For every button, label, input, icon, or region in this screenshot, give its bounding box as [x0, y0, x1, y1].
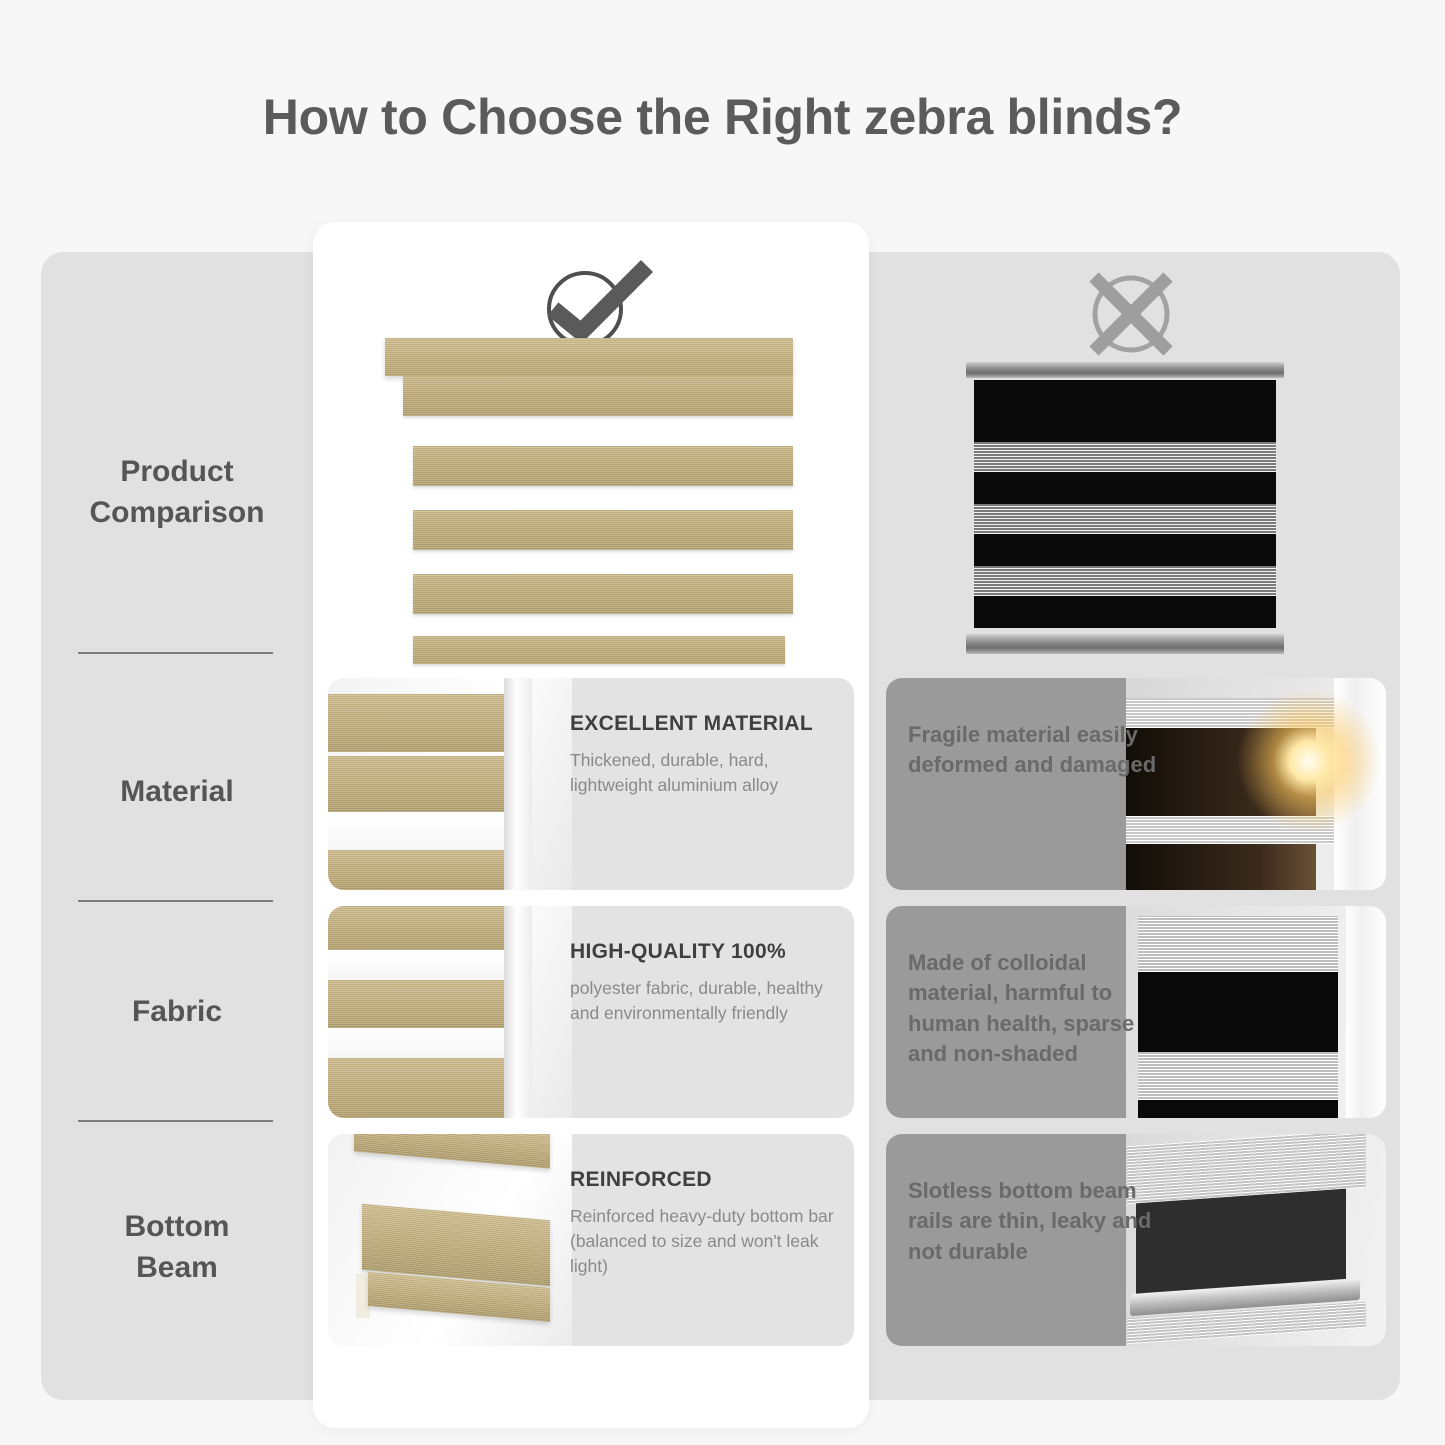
good-hero-image: [385, 338, 793, 668]
window-jamb: [504, 906, 532, 1118]
feature-description: Reinforced heavy-duty bottom bar (balanc…: [570, 1204, 836, 1279]
good-feature-text-fabric: HIGH-QUALITY 100% polyester fabric, dura…: [570, 940, 836, 1026]
bad-feature-text-material: Fragile material easily deformed and dam…: [908, 720, 1164, 781]
blind-slat: [328, 906, 504, 950]
window-jamb: [1346, 906, 1386, 1118]
blind-slat: [413, 510, 793, 550]
sheer-stripe: [1138, 916, 1338, 972]
feature-description: Thickened, durable, hard, lightweight al…: [570, 748, 836, 798]
page-title: How to Choose the Right zebra blinds?: [0, 88, 1445, 146]
blind-headrail: [385, 338, 793, 376]
good-feature-text-material: EXCELLENT MATERIAL Thickened, durable, h…: [570, 712, 836, 798]
good-feature-image-fabric: [328, 906, 572, 1118]
blind-bottom-bar: [413, 636, 785, 664]
blind-slat: [413, 574, 793, 614]
good-feature-text-bottom-beam: REINFORCED Reinforced heavy-duty bottom …: [570, 1168, 836, 1279]
blind-top-rail: [966, 362, 1284, 378]
bad-feature-image-bottom-beam: [1126, 1134, 1386, 1346]
black-blind-body: [974, 380, 1276, 628]
blind-slat: [328, 1058, 504, 1118]
feature-title: REINFORCED: [570, 1168, 836, 1192]
blind-bottom-rail: [966, 634, 1284, 654]
sidebar-item-bottom-beam: Bottom Beam: [41, 1172, 313, 1322]
good-feature-row-material: EXCELLENT MATERIAL Thickened, durable, h…: [328, 678, 854, 890]
blind-slat: [413, 446, 793, 486]
sidebar-divider: [78, 1120, 273, 1122]
good-feature-image-bottom-beam: [328, 1134, 572, 1346]
bad-feature-text-bottom-beam: Slotless bottom beam rails are thin, lea…: [908, 1176, 1164, 1267]
bad-feature-text-fabric: Made of colloidal material, harmful to h…: [908, 948, 1164, 1069]
light-leak-flare: [1234, 686, 1384, 836]
x-circle-icon: [1072, 264, 1190, 364]
check-circle-icon: [529, 252, 659, 352]
bad-feature-image-fabric: [1126, 906, 1386, 1118]
sidebar-divider: [78, 652, 273, 654]
good-feature-image-material: [328, 678, 572, 890]
feature-title: EXCELLENT MATERIAL: [570, 712, 836, 736]
dark-blind-band: [1138, 972, 1338, 1052]
sheer-stripe: [1138, 1052, 1338, 1100]
sidebar-item-product-comparison: Product Comparison: [41, 402, 313, 582]
blind-slat: [328, 756, 504, 812]
dark-blind-band: [1136, 1189, 1346, 1296]
sheer-stripe: [328, 950, 504, 980]
dark-blind-band: [1126, 844, 1316, 890]
blind-slat: [403, 376, 793, 416]
sheer-stripe: [328, 812, 504, 850]
sheer-stripe: [974, 566, 1276, 596]
sheer-stripe: [974, 504, 1276, 534]
sidebar-label-material: Material: [120, 771, 233, 812]
bad-feature-row-fabric: Made of colloidal material, harmful to h…: [886, 906, 1386, 1118]
bad-feature-row-material: Fragile material easily deformed and dam…: [886, 678, 1386, 890]
infographic-canvas: How to Choose the Right zebra blinds? Pr…: [0, 0, 1445, 1445]
blind-slat: [328, 850, 504, 890]
sidebar-label-bottom-beam: Bottom Beam: [125, 1206, 230, 1289]
feature-title: HIGH-QUALITY 100%: [570, 940, 836, 964]
bad-feature-image-material: [1126, 678, 1386, 890]
sheer-stripe: [974, 442, 1276, 472]
bad-feature-row-bottom-beam: Slotless bottom beam rails are thin, lea…: [886, 1134, 1386, 1346]
bad-hero-image: [962, 362, 1290, 660]
good-feature-row-bottom-beam: REINFORCED Reinforced heavy-duty bottom …: [328, 1134, 854, 1346]
window-jamb: [504, 678, 532, 890]
sidebar-label-fabric: Fabric: [132, 991, 222, 1032]
feature-description: polyester fabric, durable, healthy and e…: [570, 976, 836, 1026]
sidebar-item-material: Material: [41, 732, 313, 852]
sidebar-divider: [78, 900, 273, 902]
sheer-stripe: [328, 1028, 504, 1058]
sidebar-label-product-comparison: Product Comparison: [89, 451, 264, 534]
good-feature-row-fabric: HIGH-QUALITY 100% polyester fabric, dura…: [328, 906, 854, 1118]
dark-blind-band: [1138, 1100, 1338, 1118]
blind-slat: [328, 980, 504, 1028]
blind-slat: [328, 694, 504, 752]
sidebar-labels: Product Comparison Material Fabric Botto…: [41, 252, 313, 1400]
sidebar-item-fabric: Fabric: [41, 952, 313, 1072]
